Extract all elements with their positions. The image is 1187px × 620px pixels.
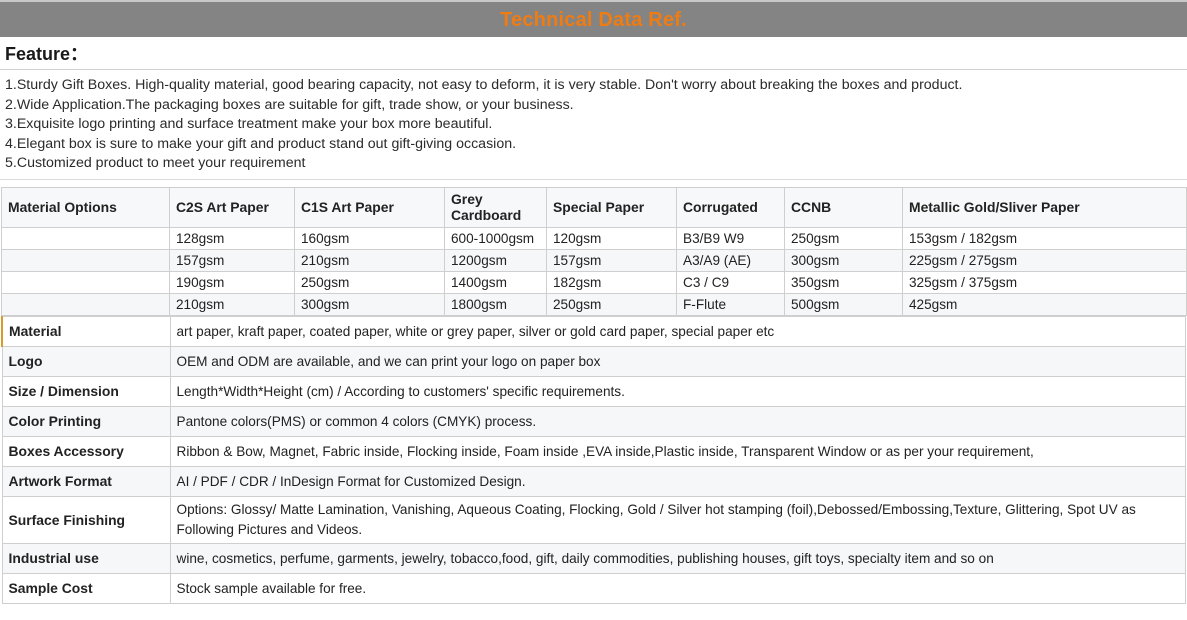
cell: 600-1000gsm: [445, 227, 547, 249]
spec-row-artwork-format: Artwork Format AI / PDF / CDR / InDesign…: [2, 466, 1186, 496]
cell: 1200gsm: [445, 249, 547, 271]
table-row: 210gsm 300gsm 1800gsm 250gsm F-Flute 500…: [2, 293, 1187, 315]
cell: 157gsm: [170, 249, 295, 271]
cell: 190gsm: [170, 271, 295, 293]
table-row: 190gsm 250gsm 1400gsm 182gsm C3 / C9 350…: [2, 271, 1187, 293]
cell: 153gsm / 182gsm: [903, 227, 1187, 249]
spec-value: Pantone colors(PMS) or common 4 colors (…: [170, 406, 1186, 436]
table-header-row: Material Options C2S Art Paper C1S Art P…: [2, 187, 1187, 227]
spec-row-sample-cost: Sample Cost Stock sample available for f…: [2, 573, 1186, 603]
spec-label: Logo: [2, 346, 170, 376]
spec-label: Surface Finishing: [2, 496, 170, 543]
column-header: Corrugated: [677, 187, 785, 227]
cell: 300gsm: [295, 293, 445, 315]
cell: [2, 293, 170, 315]
spec-value: wine, cosmetics, perfume, garments, jewe…: [170, 543, 1186, 573]
cell: 350gsm: [785, 271, 903, 293]
feature-item: 4.Elegant box is sure to make your gift …: [5, 135, 1182, 155]
cell: 250gsm: [295, 271, 445, 293]
cell: 210gsm: [295, 249, 445, 271]
feature-item: 1.Sturdy Gift Boxes. High-quality materi…: [5, 76, 1182, 96]
cell: [2, 227, 170, 249]
cell: 210gsm: [170, 293, 295, 315]
feature-heading: Feature：: [5, 40, 88, 66]
spec-label: Color Printing: [2, 406, 170, 436]
cell: C3 / C9: [677, 271, 785, 293]
cell: 157gsm: [547, 249, 677, 271]
column-header: C2S Art Paper: [170, 187, 295, 227]
cell: F-Flute: [677, 293, 785, 315]
cell: A3/A9 (AE): [677, 249, 785, 271]
spec-row-color-printing: Color Printing Pantone colors(PMS) or co…: [2, 406, 1186, 436]
column-header: Grey Cardboard: [445, 187, 547, 227]
column-header: Material Options: [2, 187, 170, 227]
cell: 300gsm: [785, 249, 903, 271]
column-header: C1S Art Paper: [295, 187, 445, 227]
spec-value: Stock sample available for free.: [170, 573, 1186, 603]
spec-value: art paper, kraft paper, coated paper, wh…: [170, 316, 1186, 346]
spec-value: AI / PDF / CDR / InDesign Format for Cus…: [170, 466, 1186, 496]
table-row: 128gsm 160gsm 600-1000gsm 120gsm B3/B9 W…: [2, 227, 1187, 249]
column-header: Special Paper: [547, 187, 677, 227]
cell: [2, 271, 170, 293]
cell: 500gsm: [785, 293, 903, 315]
table-row: 157gsm 210gsm 1200gsm 157gsm A3/A9 (AE) …: [2, 249, 1187, 271]
cell: 250gsm: [785, 227, 903, 249]
spec-row-size-dimension: Size / Dimension Length*Width*Height (cm…: [2, 376, 1186, 406]
spec-row-surface-finishing: Surface Finishing Options: Glossy/ Matte…: [2, 496, 1186, 543]
technical-data-sheet: Technical Data Ref. Feature： 1.Sturdy Gi…: [0, 0, 1187, 620]
feature-list: 1.Sturdy Gift Boxes. High-quality materi…: [0, 70, 1187, 180]
spec-value: Ribbon & Bow, Magnet, Fabric inside, Flo…: [170, 436, 1186, 466]
spec-value: Options: Glossy/ Matte Lamination, Vanis…: [170, 496, 1186, 543]
feature-item: 5.Customized product to meet your requir…: [5, 154, 1182, 174]
spec-label: Material: [2, 316, 170, 346]
spec-label: Sample Cost: [2, 573, 170, 603]
spec-label: Artwork Format: [2, 466, 170, 496]
cell: 325gsm / 375gsm: [903, 271, 1187, 293]
spec-label: Boxes Accessory: [2, 436, 170, 466]
cell: 182gsm: [547, 271, 677, 293]
feature-item: 3.Exquisite logo printing and surface tr…: [5, 115, 1182, 135]
spec-label: Industrial use: [2, 543, 170, 573]
page-title: Technical Data Ref.: [500, 10, 687, 30]
cell: 225gsm / 275gsm: [903, 249, 1187, 271]
spec-row-material: Material art paper, kraft paper, coated …: [2, 316, 1186, 346]
cell: 250gsm: [547, 293, 677, 315]
spec-value: OEM and ODM are available, and we can pr…: [170, 346, 1186, 376]
specification-table: Material art paper, kraft paper, coated …: [1, 316, 1186, 604]
cell: 120gsm: [547, 227, 677, 249]
cell: [2, 249, 170, 271]
column-header: Metallic Gold/Sliver Paper: [903, 187, 1187, 227]
spec-row-logo: Logo OEM and ODM are available, and we c…: [2, 346, 1186, 376]
cell: 128gsm: [170, 227, 295, 249]
cell: B3/B9 W9: [677, 227, 785, 249]
feature-heading-row: Feature：: [0, 37, 1187, 70]
material-options-table: Material Options C2S Art Paper C1S Art P…: [1, 187, 1187, 316]
cell: 425gsm: [903, 293, 1187, 315]
spec-row-boxes-accessory: Boxes Accessory Ribbon & Bow, Magnet, Fa…: [2, 436, 1186, 466]
feature-item: 2.Wide Application.The packaging boxes a…: [5, 96, 1182, 116]
column-header: CCNB: [785, 187, 903, 227]
spec-value: Length*Width*Height (cm) / According to …: [170, 376, 1186, 406]
spec-label: Size / Dimension: [2, 376, 170, 406]
cell: 160gsm: [295, 227, 445, 249]
spec-row-industrial-use: Industrial use wine, cosmetics, perfume,…: [2, 543, 1186, 573]
title-banner: Technical Data Ref.: [0, 0, 1187, 37]
cell: 1800gsm: [445, 293, 547, 315]
cell: 1400gsm: [445, 271, 547, 293]
